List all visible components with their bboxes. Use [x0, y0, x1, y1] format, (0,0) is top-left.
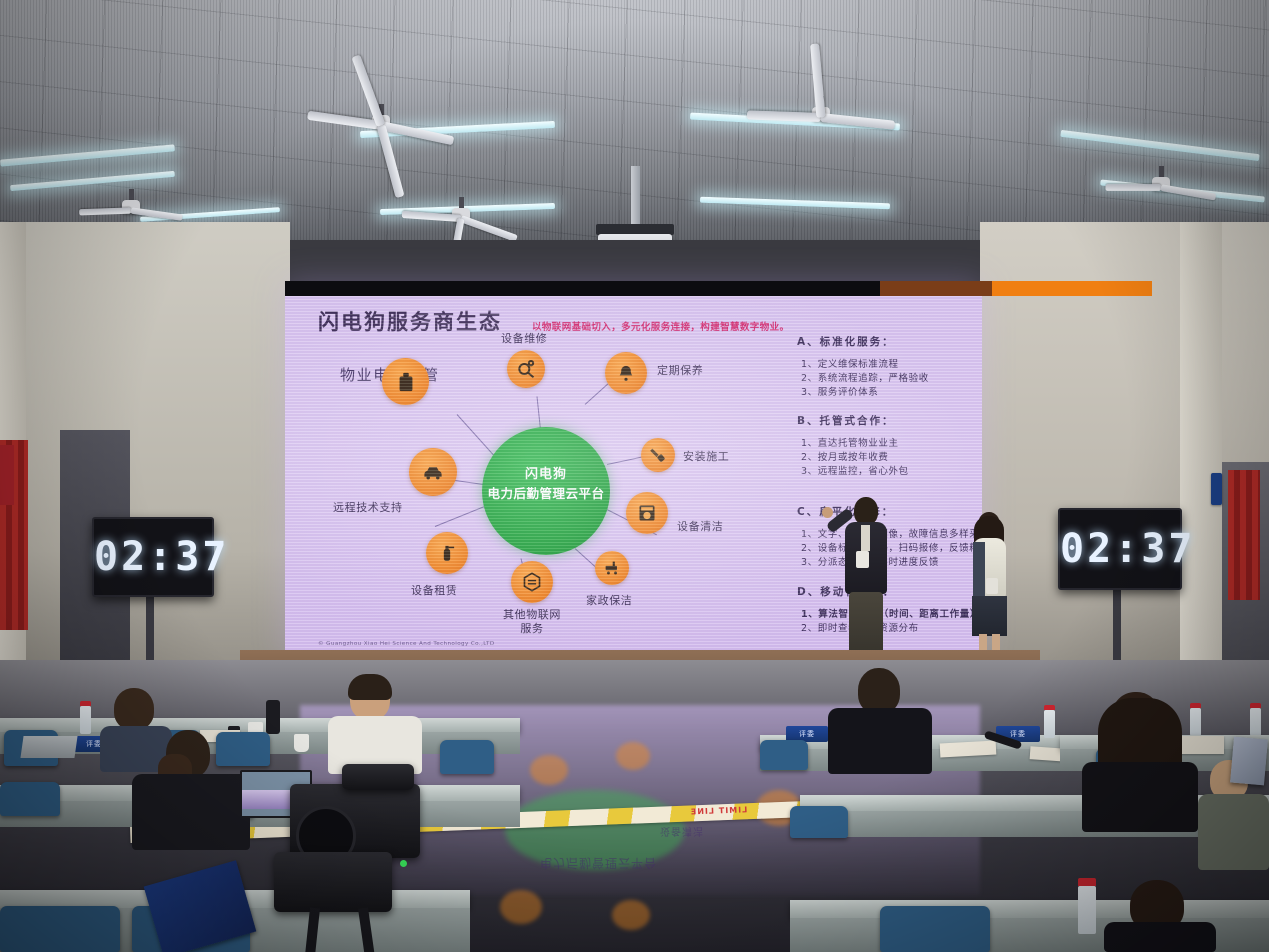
slide-title: 闪电狗服务商生态 [318, 306, 502, 336]
node-installation [641, 438, 675, 472]
audience-torso [132, 774, 250, 850]
audience-chair [0, 906, 120, 952]
camera-record-light [400, 860, 407, 867]
curtain-right [1228, 470, 1260, 600]
hub-line-1: 闪电狗 [482, 463, 610, 482]
slide-copyright: © Guangzhou Xiao Hei Science And Technol… [318, 641, 495, 647]
node-label-equipment-rental: 设备租赁 [411, 582, 457, 598]
node-label-periodic-maintenance: 定期保养 [657, 362, 703, 378]
clock-left-digits: 02:37 [94, 534, 212, 580]
audience-chair [790, 806, 848, 838]
audience-member [1100, 880, 1220, 952]
section-a-item: 1、定义维保标准流程 [801, 356, 899, 370]
countdown-clock-right: 02:37 [1058, 508, 1182, 590]
left-wall [0, 222, 290, 692]
wall-pillar-right [1180, 222, 1222, 692]
tape-label: LIMIT LINE [690, 805, 748, 816]
node-equipment-repair [507, 350, 545, 388]
reflection-text: 电力后勤管理云平台 [540, 855, 657, 872]
audience-torso [1082, 762, 1198, 832]
reflection-node [500, 890, 542, 924]
ceiling-fan [380, 120, 381, 121]
node-label-equipment-repair: 设备维修 [501, 330, 547, 346]
thermos-flask [266, 700, 280, 734]
audience-head [114, 688, 154, 730]
node-equipment-cleaning [626, 492, 668, 534]
fan-blade [79, 207, 131, 215]
camera-handle [342, 764, 414, 790]
reflection-node [612, 900, 650, 930]
judge-placard-label: 评委 [786, 729, 828, 739]
screen-bezel-top [285, 281, 982, 296]
node-oil-can [382, 358, 429, 405]
bottle-cap [1250, 703, 1261, 708]
node-label-housekeeping: 家政保洁 [586, 592, 632, 608]
hub-line-2: 电力后勤管理云平台 [482, 483, 610, 502]
bottle-cap [80, 701, 91, 706]
fan-blade [1105, 184, 1161, 191]
audience-member [826, 668, 936, 772]
washer-icon [637, 503, 657, 523]
water-bottle [80, 706, 91, 734]
section-b-item: 1、直达托管物业业主 [801, 435, 899, 449]
bell-icon [617, 364, 636, 383]
ceiling-fan [460, 213, 461, 214]
ceiling-fan [1160, 182, 1161, 183]
audience-chair [0, 782, 60, 816]
camera-rear-grip [274, 852, 392, 912]
section-b-heading: B、托管式合作： [797, 413, 895, 428]
extinguisher-icon [438, 544, 457, 563]
reflection-node [530, 755, 568, 785]
audience-torso [1104, 922, 1216, 952]
hub-platform-circle: 闪电狗 电力后勤管理云平台 [482, 427, 610, 555]
node-label-equipment-cleaning: 设备清洁 [677, 518, 723, 534]
bottle-cap [1078, 878, 1096, 886]
wall-banner-left [0, 445, 14, 505]
wall-sign [1211, 473, 1222, 505]
audience-chair [760, 740, 808, 770]
node-label-installation: 安装施工 [683, 448, 729, 464]
audience-torso [828, 708, 932, 774]
brush-icon [650, 447, 667, 464]
audience-torso [1198, 794, 1269, 870]
desk-paper [940, 741, 997, 758]
section-a-heading: A、标准化服务： [797, 334, 895, 349]
accent-bar-orange [992, 281, 1152, 296]
reflection-node [616, 742, 650, 770]
table-flag [1230, 737, 1268, 786]
node-equipment-rental [426, 532, 468, 574]
water-bottle [1044, 710, 1055, 738]
ceiling-fan [820, 112, 821, 113]
presenter-male-shirt [861, 525, 870, 551]
screenshot-root: 闪电狗服务商生态 以物联网基础切入，多元化服务连接，构建智慧数字物业。 物业电力… [0, 0, 1269, 952]
car-icon [422, 461, 445, 484]
presenter-male-head [854, 497, 878, 525]
section-b-item: 2、按月或按年收费 [801, 449, 888, 463]
countdown-clock-left: 02:37 [92, 517, 214, 597]
magnifier-icon [516, 359, 536, 379]
node-periodic-maintenance [605, 352, 647, 394]
paper-cup [294, 734, 309, 752]
hexagon-icon [521, 571, 543, 593]
clock-right-digits: 02:37 [1060, 526, 1180, 572]
projector-pole [631, 166, 640, 228]
accent-bar-brown [880, 281, 992, 296]
oil-can-icon [395, 371, 417, 393]
presenter-male-hand [822, 507, 833, 518]
video-camera-rig [250, 760, 440, 952]
node-other-iot-services [511, 561, 553, 603]
audience-chair [880, 906, 990, 952]
slide-subtitle: 以物联网基础切入，多元化服务连接，构建智慧数字物业。 [532, 319, 789, 333]
fan-blade [746, 110, 820, 122]
bottle-cap [1044, 705, 1055, 710]
presenter-female-skirt [972, 596, 1007, 636]
node-label-remote-support: 远程技术支持 [333, 499, 403, 515]
section-a-item: 3、服务评价体系 [801, 384, 878, 398]
water-bottle [1250, 708, 1261, 736]
laptop [20, 736, 77, 758]
reflection-text: 设备清洁 [660, 825, 704, 840]
section-b-item: 3、远程监控，省心外包 [801, 463, 909, 477]
audience-member [1080, 692, 1200, 832]
water-bottle [1078, 886, 1096, 934]
node-remote-support [409, 448, 457, 496]
tripod-leg [358, 907, 375, 952]
cart-icon [604, 560, 621, 577]
presenter-male-badge [856, 551, 869, 568]
audience-member [320, 676, 430, 772]
ceiling-fan [130, 205, 131, 206]
presenter-female-badge [986, 578, 998, 594]
node-housekeeping [595, 551, 629, 585]
audience-hair [348, 674, 392, 700]
spoke-line [435, 504, 489, 527]
presenter-female-vest [973, 542, 985, 596]
audience-member [126, 730, 256, 850]
node-label-other-iot-services: 其他物联网服务 [500, 608, 564, 636]
audience-chair [440, 740, 494, 774]
section-a-item: 2、系统流程追踪，严格验收 [801, 370, 929, 384]
tripod-leg [304, 907, 320, 952]
